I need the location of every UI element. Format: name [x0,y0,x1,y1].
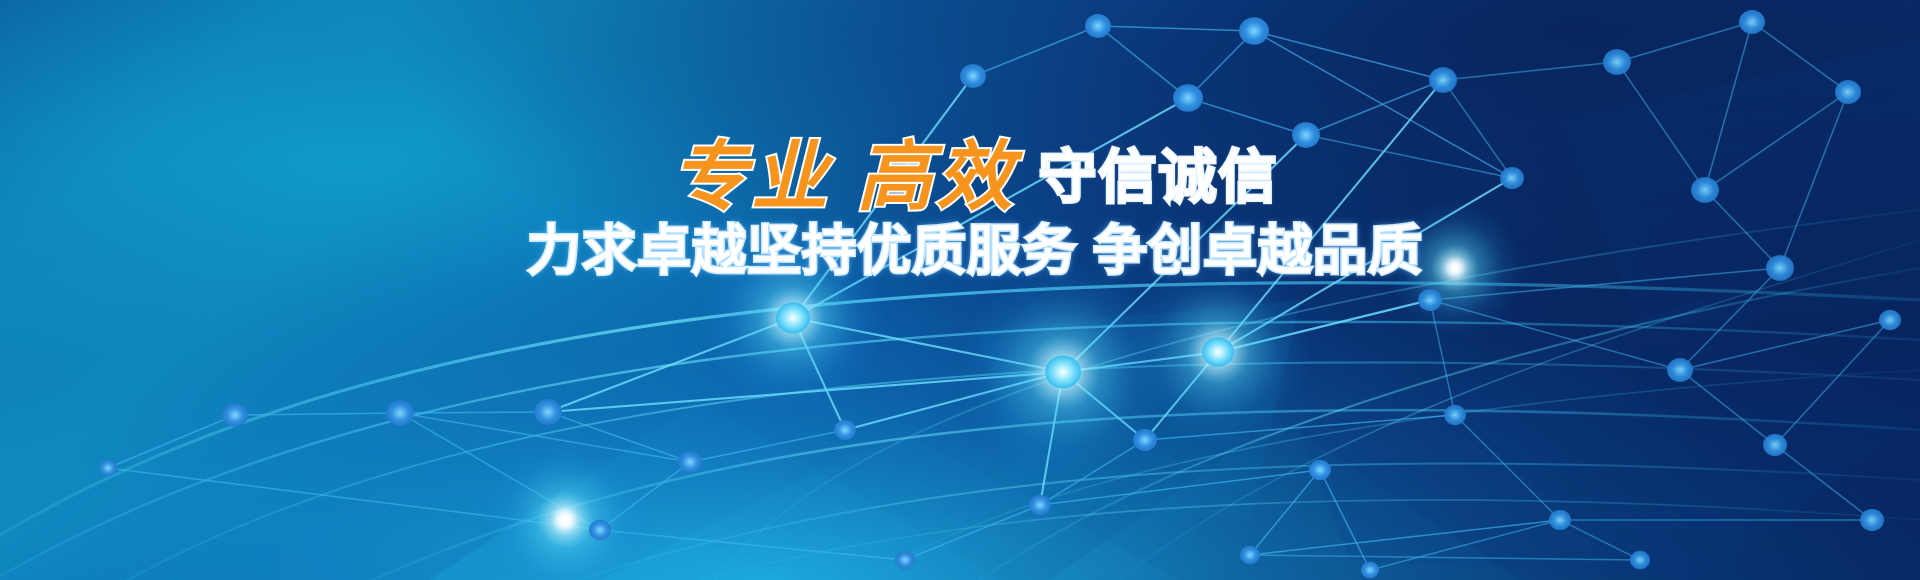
network-edge [905,505,1040,560]
network-node [386,400,414,426]
network-edge [1254,31,1512,178]
network-edge [1098,26,1188,98]
network-edge [400,412,548,413]
network-edge [1250,470,1320,555]
network-node [1309,460,1331,480]
network-edge [235,413,400,415]
network-edge [1680,320,1890,370]
network-node [1860,509,1884,531]
network-graphic-layer [0,0,1920,580]
network-edge [973,26,1098,76]
network-node [1763,434,1787,456]
network-glow-points [480,198,1525,580]
network-edge [1560,520,1640,560]
network-node [589,520,611,540]
network-edge [1705,92,1848,190]
network-edge [1680,370,1775,445]
network-node [1766,255,1794,281]
network-node [776,302,810,333]
network-edge [1320,470,1370,570]
network-node [1444,405,1466,425]
network-node [1292,122,1320,148]
network-edge [1752,22,1848,92]
network-node [960,64,986,88]
network-edge [1250,520,1560,555]
promotional-banner: 专业 高效守信诚信 力求卓越坚持优质服务 争创卓越品质 [0,0,1920,580]
network-edge [1705,190,1780,268]
network-edge [1443,80,1512,178]
network-node [1239,17,1269,45]
network-node [1667,358,1693,382]
network-node [1202,337,1234,366]
network-node [678,451,702,473]
network-edge [108,415,235,468]
network-edge [1705,22,1752,190]
network-node [534,399,562,425]
network-node [1029,495,1051,515]
network-edge [1680,268,1780,370]
network-node [1739,10,1765,34]
network-edge [1780,92,1848,268]
network-edge [1455,415,1560,520]
network-node [1173,84,1203,112]
network-node [222,403,248,427]
network-node [1418,289,1442,311]
network-edge [1370,520,1560,570]
network-node [1835,80,1861,104]
network-node [1133,429,1157,451]
network-edge [1775,445,1872,520]
network-node [1549,510,1571,530]
network-node [834,420,856,440]
network-edge [1250,555,1640,560]
network-node [1603,49,1631,75]
network-edge [1254,31,1443,80]
network-edge [690,430,845,462]
network-edge [1306,135,1512,178]
network-node [1361,562,1379,579]
network-node [1630,551,1650,569]
glow-core [1448,261,1462,275]
network-node [1085,14,1111,38]
network-edge [1617,62,1705,190]
network-node [1691,177,1719,203]
network-node [1879,310,1901,330]
network-node [895,551,915,569]
network-node [1500,167,1524,189]
network-node [99,460,117,477]
network-node [1240,546,1260,564]
network-edge [1443,62,1617,80]
network-edge [1775,320,1890,445]
glow-point [480,435,650,580]
network-edge [1617,22,1752,62]
network-edge [1098,26,1254,31]
network-node [1429,67,1457,93]
network-node [1045,355,1081,388]
glow-core [557,512,574,529]
network-edge [1188,98,1306,135]
